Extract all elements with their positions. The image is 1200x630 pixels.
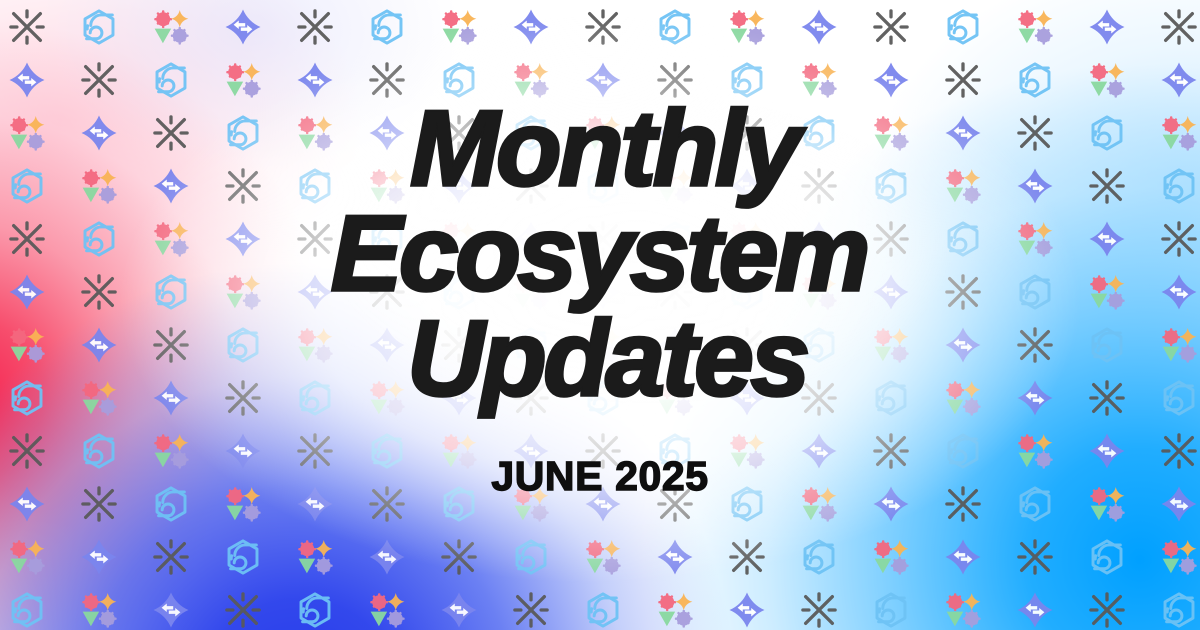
title-line-2: Ecosystem [331, 201, 867, 306]
title-line-3: Updates [347, 306, 867, 411]
title-line-1: Monthly [341, 96, 867, 201]
banner-subtitle-date: JUNE 2025 [491, 453, 708, 500]
banner-root: Monthly Ecosystem Updates JUNE 2025 [0, 0, 1200, 630]
banner-content: Monthly Ecosystem Updates JUNE 2025 [0, 0, 1200, 630]
page-title: Monthly Ecosystem Updates [333, 96, 867, 411]
